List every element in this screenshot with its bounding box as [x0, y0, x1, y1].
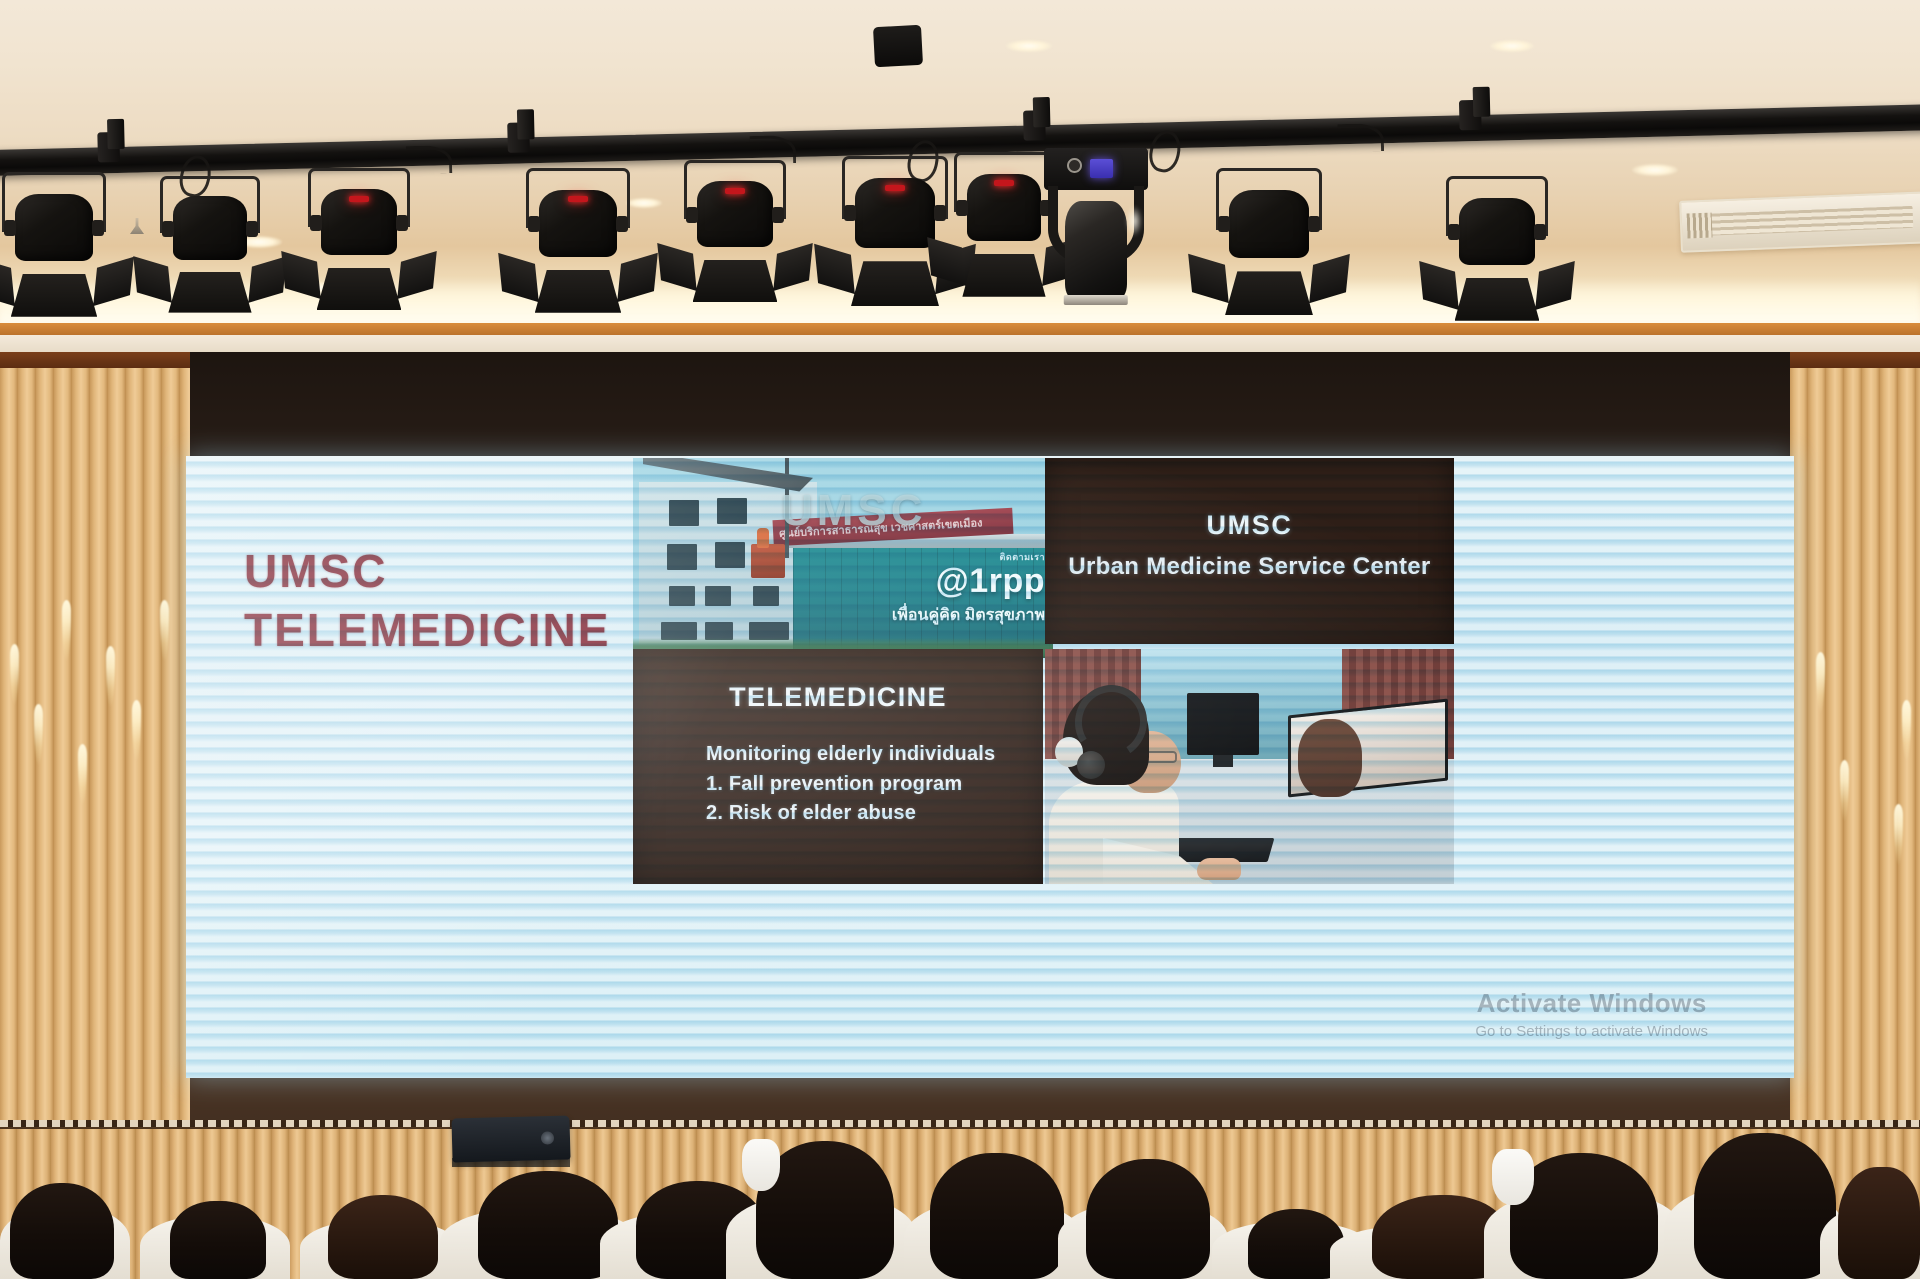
truss-drop	[1473, 87, 1491, 117]
panel-telemedicine-heading: TELEMEDICINE	[633, 682, 1043, 713]
spotlight-barndoor	[168, 272, 251, 313]
spotlight-knob	[310, 215, 322, 231]
spotlight-barndoor	[11, 274, 97, 317]
spotlight-knob	[92, 220, 104, 236]
spotlight-knob	[246, 221, 258, 237]
downlight-icon	[1490, 40, 1534, 52]
face-mask-icon	[742, 1139, 780, 1191]
telemedicine-line-2: 1. Fall prevention program	[706, 770, 995, 800]
moving-head-light	[1044, 148, 1148, 308]
spotlight-barndoor	[535, 270, 621, 313]
spotlight-led-indicator	[994, 180, 1014, 186]
ceiling-speaker-icon	[873, 25, 923, 67]
building-sign-letters: UMSC	[781, 486, 927, 536]
audience-wall-perforation	[0, 1120, 1920, 1127]
spotlight-knob	[1448, 224, 1460, 240]
headset-earcup	[1077, 751, 1105, 779]
building-window	[717, 498, 747, 524]
moving-head-lens	[1064, 295, 1128, 305]
spotlight-body	[1459, 198, 1535, 265]
audience-head	[1838, 1167, 1920, 1279]
brand-handle: @1rpp	[892, 564, 1045, 598]
spotlight-knob	[844, 205, 856, 221]
stage-spotlight	[158, 176, 262, 278]
panel-umsc-heading: UMSC	[1045, 510, 1454, 541]
spotlight-led-indicator	[568, 196, 588, 202]
audience-head	[328, 1195, 438, 1279]
truss-drop	[517, 109, 535, 139]
wall-accent-light-icon	[1816, 652, 1825, 714]
audience-head	[170, 1201, 266, 1279]
spotlight-barndoor	[1225, 271, 1313, 315]
stage-monitor-speaker	[451, 1115, 570, 1162]
moving-head-glow	[1126, 206, 1142, 236]
power-cable	[406, 145, 453, 174]
spotlight-knob	[162, 221, 174, 237]
spotlight-knob	[772, 207, 784, 223]
ceiling-shadow-band	[0, 335, 1920, 352]
lift-platform	[751, 544, 785, 578]
spotlight-led-indicator	[349, 196, 369, 202]
panel-umsc-subheading: Urban Medicine Service Center	[1045, 553, 1454, 581]
moving-head-dial-icon	[1067, 158, 1082, 173]
wall-accent-light-icon	[10, 644, 19, 706]
wall-accent-light-icon	[1894, 804, 1903, 866]
spotlight-knob	[1218, 216, 1230, 232]
building-window	[669, 500, 699, 526]
spotlight-barndoor	[693, 260, 778, 302]
wall-accent-light-icon	[1902, 700, 1911, 762]
spotlight-body	[15, 194, 93, 261]
spotlight-knob	[1308, 216, 1320, 232]
audience-head	[478, 1171, 618, 1279]
building-window	[753, 586, 779, 606]
building-window	[667, 544, 697, 570]
slide-title: UMSC TELEMEDICINE	[244, 542, 610, 660]
building-window	[715, 542, 745, 568]
stage-spotlight	[1444, 176, 1550, 284]
spotlight-barndoor	[962, 254, 1045, 297]
audience-seated	[0, 1089, 1920, 1279]
operator-hand	[1197, 858, 1241, 880]
wooden-slat-wall-right	[1790, 352, 1920, 1130]
wall-accent-light-icon	[160, 600, 169, 662]
panel-telemedicine-list: Monitoring elderly individuals 1. Fall p…	[706, 740, 995, 829]
stage-spotlight	[1214, 168, 1324, 278]
spotlight-body	[1229, 190, 1308, 258]
slide-title-line-2: TELEMEDICINE	[244, 601, 610, 660]
eyeglasses-icon	[1145, 751, 1177, 763]
wooden-slat-wall-left	[0, 352, 190, 1130]
building-window	[669, 586, 695, 606]
wall-accent-light-icon	[34, 704, 43, 766]
stage-spotlight	[682, 160, 788, 266]
wall-accent-light-icon	[1840, 760, 1849, 822]
spotlight-knob	[616, 216, 628, 232]
wall-accent-light-icon	[78, 744, 87, 806]
spotlight-body	[173, 196, 248, 259]
spotlight-knob	[686, 207, 698, 223]
audience-head	[1694, 1133, 1836, 1279]
panel-umsc: UMSC Urban Medicine Service Center	[1045, 458, 1454, 644]
spotlight-barndoor	[317, 268, 402, 310]
spotlight-knob	[934, 205, 946, 221]
brand-tagline-thai: เพื่อนคู่คิด มิตรสุขภาพ	[892, 603, 1045, 628]
wall-top-trim	[1790, 352, 1920, 368]
wall-accent-light-icon	[62, 600, 71, 662]
brand-block: ติดตามเรา @1rpp เพื่อนคู่คิด มิตรสุขภาพ	[892, 550, 1045, 628]
photo-umsc-building: UMSC ศูนย์บริการสาธารณสุข เวชศาสตร์เขตเม…	[633, 458, 1053, 658]
audience-head	[930, 1153, 1064, 1279]
wall-accent-light-icon	[106, 646, 115, 708]
audience-head	[10, 1183, 114, 1279]
computer-monitor	[1187, 693, 1259, 755]
telemedicine-line-1: Monitoring elderly individuals	[706, 740, 995, 770]
ceiling-air-conditioning-vent	[1679, 191, 1920, 253]
telemedicine-line-3: 2. Risk of elder abuse	[706, 799, 995, 829]
wall-accent-light-icon	[132, 700, 141, 762]
lecture-hall-scene: UMSC TELEMEDICINE UMSC ศูนย์บ	[0, 0, 1920, 1279]
truss-drop	[107, 119, 125, 149]
stage-spotlight	[524, 168, 632, 276]
panel-telemedicine: TELEMEDICINE Monitoring elderly individu…	[633, 649, 1043, 884]
downlight-icon	[1632, 164, 1678, 176]
audience-head	[1086, 1159, 1210, 1279]
spotlight-barndoor	[851, 261, 939, 306]
downlight-icon	[1006, 40, 1052, 52]
moving-head-lamp-head	[1065, 201, 1127, 300]
building-window	[705, 586, 731, 606]
face-mask-icon	[1492, 1149, 1534, 1205]
spotlight-knob	[1534, 224, 1546, 240]
sprinkler-icon	[130, 218, 144, 234]
spotlight-knob	[528, 216, 540, 232]
truss-drop	[1033, 97, 1051, 127]
projection-screen[interactable]: UMSC TELEMEDICINE UMSC ศูนย์บ	[186, 456, 1794, 1078]
power-cable	[1337, 123, 1384, 152]
spotlight-led-indicator	[725, 188, 745, 194]
screen-upper-bezel	[190, 352, 1790, 457]
wall-top-trim	[0, 352, 190, 368]
stage-spotlight	[952, 152, 1056, 260]
remote-participant-head	[1298, 719, 1362, 797]
spotlight-knob	[956, 200, 968, 216]
moving-head-display-screen	[1090, 159, 1113, 178]
stage-spotlight	[0, 172, 108, 280]
spotlight-knob	[4, 220, 16, 236]
worker-figure	[757, 528, 769, 548]
spotlight-led-indicator	[885, 185, 905, 191]
photo-telemedicine-operator	[1045, 649, 1454, 884]
slide-title-line-1: UMSC	[244, 545, 387, 597]
stage-spotlight	[306, 168, 412, 274]
spotlight-knob	[396, 215, 408, 231]
spotlight-barndoor	[1455, 278, 1540, 321]
